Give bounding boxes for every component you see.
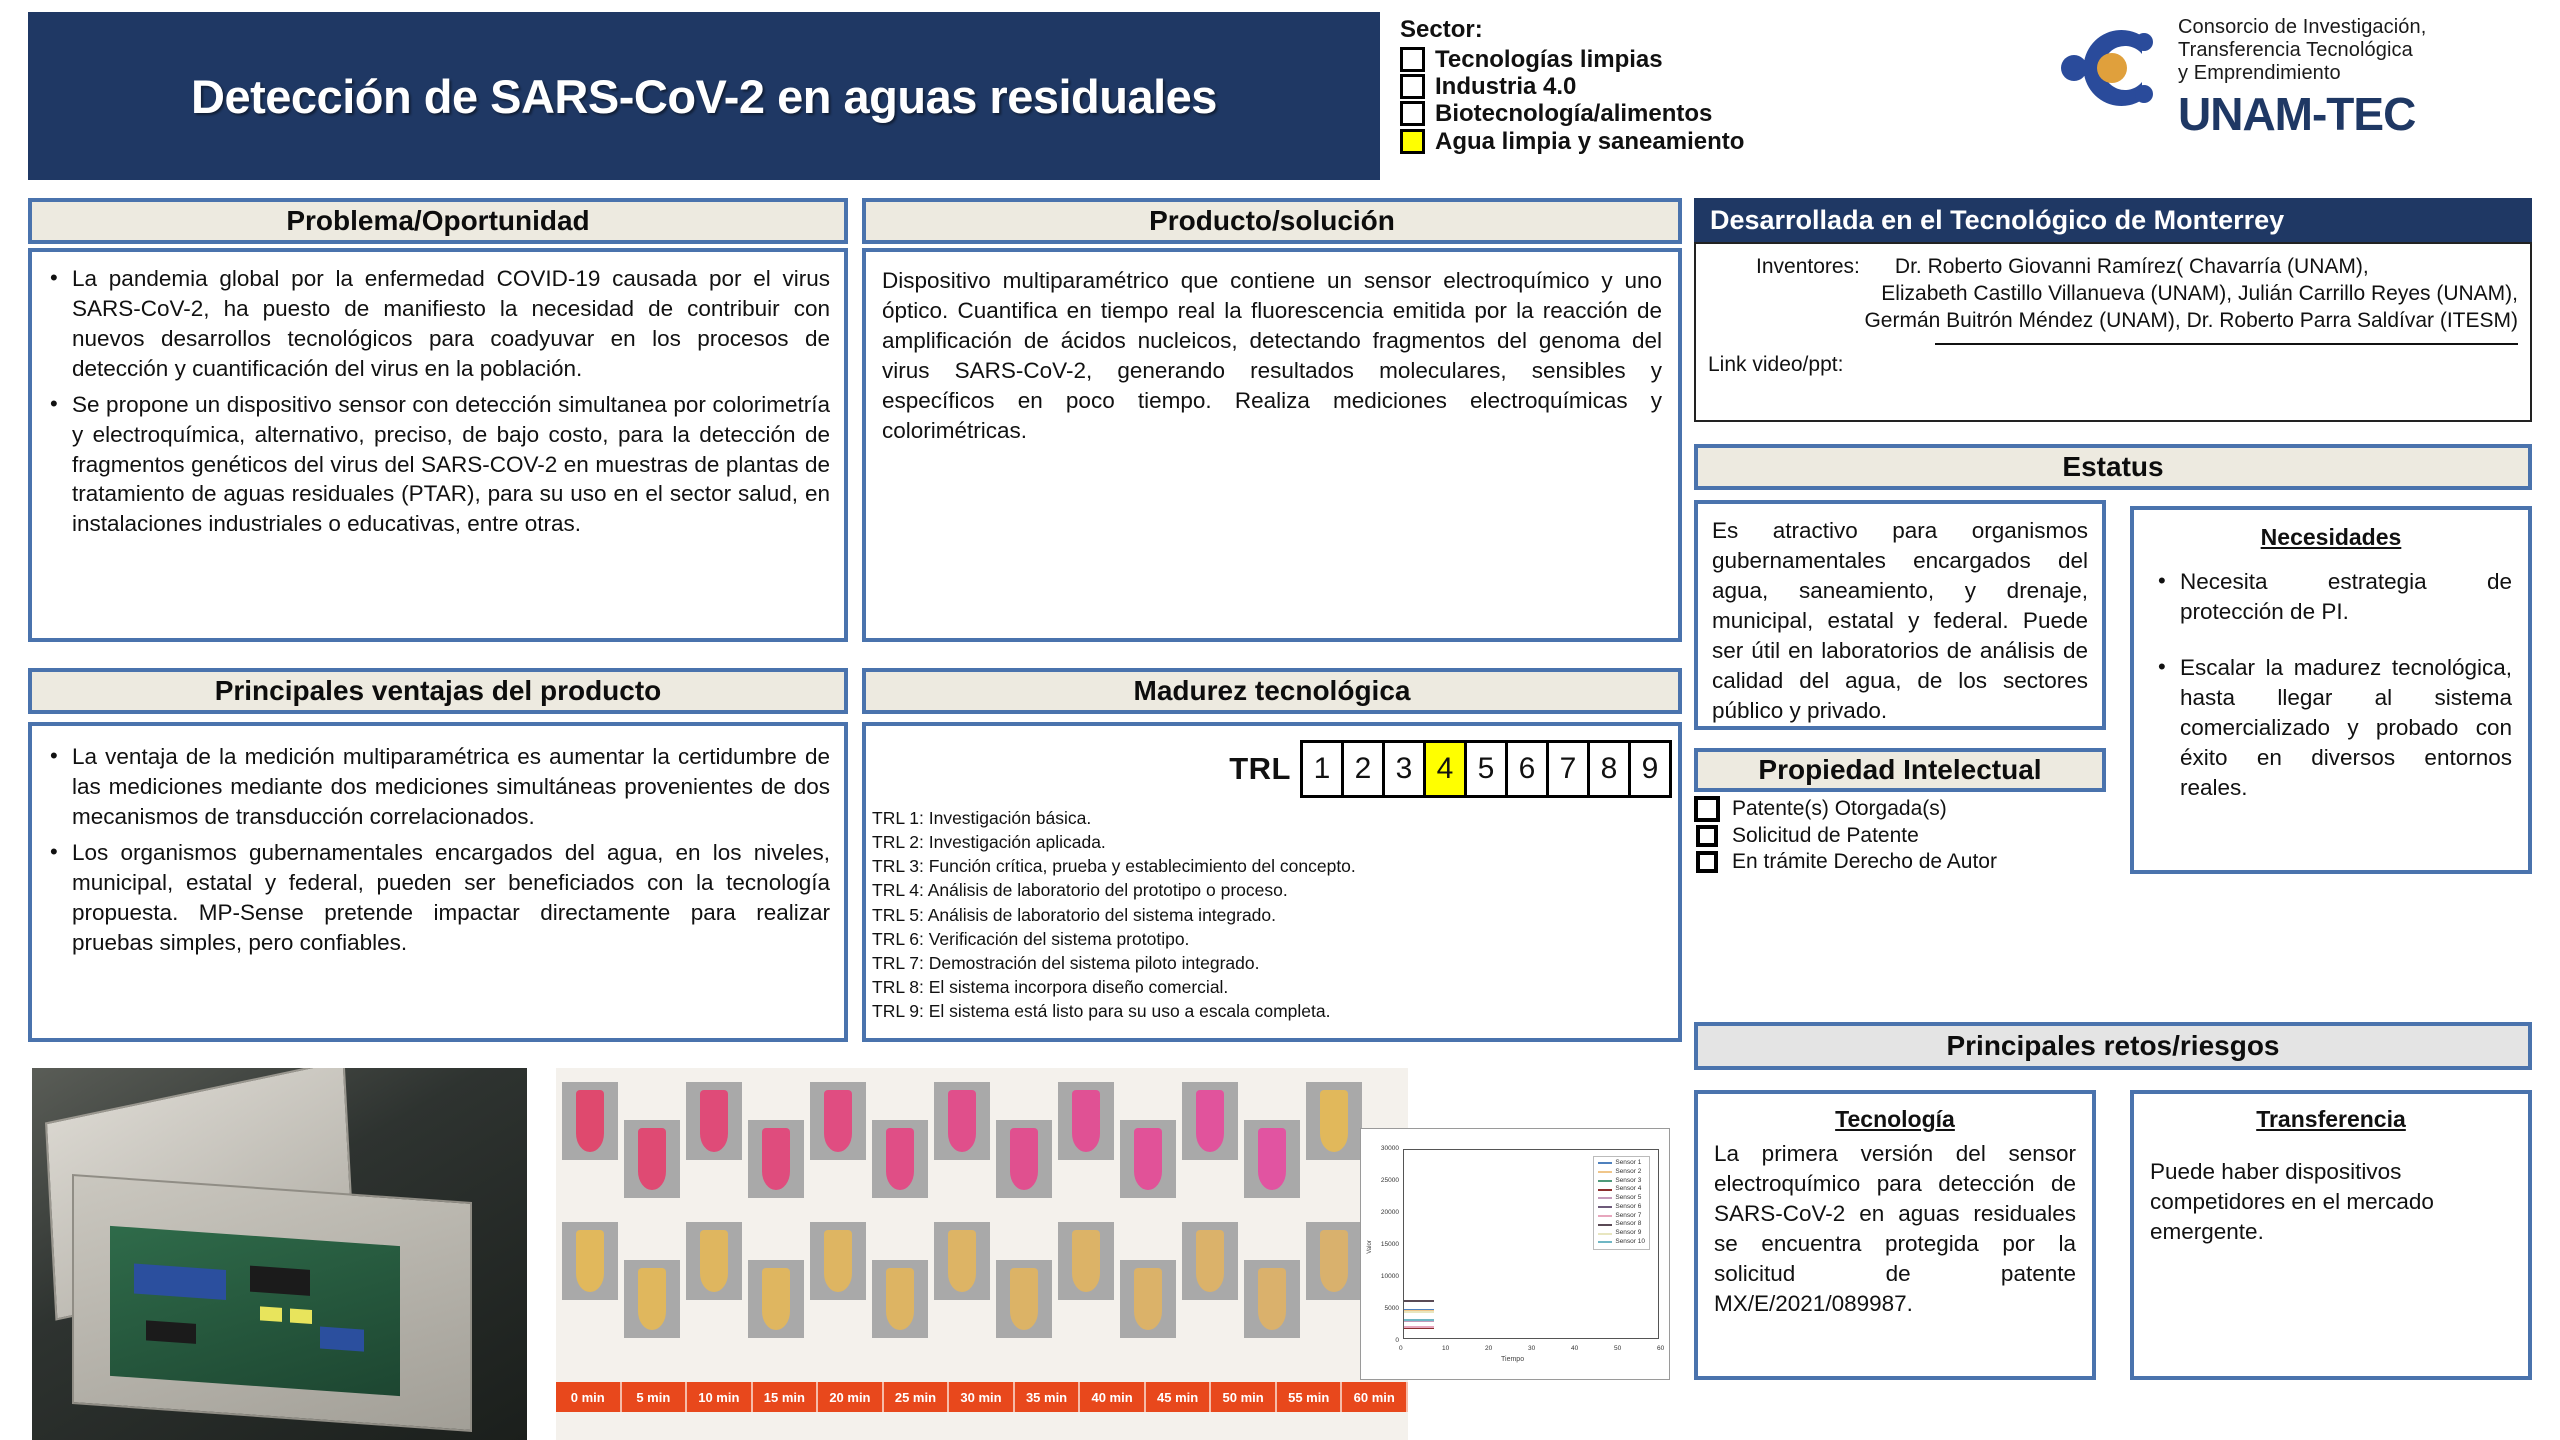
checkbox-icon[interactable] [1400, 74, 1425, 99]
chart-y-tick: 30000 [1365, 1145, 1399, 1152]
reaction-tube [824, 1090, 852, 1152]
reaction-tube-cell [1306, 1082, 1362, 1160]
reaction-tube-cell [996, 1120, 1052, 1198]
pi-option-label: En trámite Derecho de Autor [1732, 850, 1997, 874]
chart-x-tick: 0 [1399, 1345, 1403, 1352]
inventores-names-1: Dr. Roberto Giovanni Ramírez( Chavarría … [1895, 255, 2369, 278]
legend-label: Sensor 4 [1615, 1185, 1641, 1194]
device-photo [32, 1068, 527, 1440]
chart-x-tick: 40 [1571, 1345, 1578, 1352]
trl-definition: TRL 4: Análisis de laboratorio del proto… [872, 878, 1676, 902]
pcb-module [134, 1264, 226, 1300]
chart-legend-item: Sensor 2 [1598, 1168, 1645, 1177]
sector-option-label: Biotecnología/alimentos [1435, 101, 1712, 126]
chart-legend-item: Sensor 7 [1598, 1212, 1645, 1221]
reaction-tube-cell [872, 1260, 928, 1338]
poster-canvas: Detección de SARS-CoV-2 en aguas residua… [0, 0, 2560, 1440]
trl-definition: TRL 6: Verificación del sistema prototip… [872, 927, 1676, 951]
necesidades-body: Necesidades Necesita estrategia de prote… [2130, 506, 2532, 874]
chart-y-tick: 20000 [1365, 1209, 1399, 1216]
reaction-tube-cell [562, 1222, 618, 1300]
chart-legend-item: Sensor 10 [1598, 1238, 1645, 1247]
trl-cell-3[interactable]: 3 [1382, 740, 1426, 798]
trl-definition: TRL 3: Función crítica, prueba y estable… [872, 854, 1676, 878]
problema-heading: Problema/Oportunidad [28, 198, 848, 244]
sector-label: Sector: [1400, 16, 2000, 44]
legend-label: Sensor 5 [1615, 1194, 1641, 1203]
timeline-step: 30 min [949, 1382, 1015, 1412]
divider [1935, 343, 2518, 345]
unam-tec-logo: Consorcio de Investigación, Transferenci… [2060, 14, 2540, 119]
chart-legend-item: Sensor 1 [1598, 1159, 1645, 1168]
logo-line-3: y Emprendimiento [2178, 62, 2538, 85]
legend-label: Sensor 6 [1615, 1203, 1641, 1212]
estatus-text: Es atractivo para organismos gubernament… [1712, 516, 2088, 725]
chart-legend-item: Sensor 6 [1598, 1203, 1645, 1212]
list-item: Los organismos gubernamentales encargado… [42, 838, 830, 958]
sector-option-industria-40[interactable]: Industria 4.0 [1400, 74, 2000, 99]
chart-legend-item: Sensor 5 [1598, 1194, 1645, 1203]
timeline-step: 15 min [753, 1382, 819, 1412]
problema-body: La pandemia global por la enfermedad COV… [28, 248, 848, 642]
estatus-heading: Estatus [1694, 444, 2532, 490]
timeline-step: 0 min [556, 1382, 622, 1412]
necesidades-bullet-list: Necesita estrategia de protección de PI.… [2150, 567, 2512, 802]
reaction-tube-cell [624, 1260, 680, 1338]
trl-definition: TRL 7: Demostración del sistema piloto i… [872, 951, 1676, 975]
reaction-tube [1320, 1090, 1348, 1152]
necesidades-heading: Necesidades [2150, 524, 2512, 551]
timeline-step: 45 min [1146, 1382, 1212, 1412]
list-item: Se propone un dispositivo sensor con det… [42, 390, 830, 540]
reaction-tube [638, 1128, 666, 1190]
reaction-tube-cell [1058, 1222, 1114, 1300]
chart-series-line [1404, 1300, 1434, 1302]
logo-line-2: Transferencia Tecnológica [2178, 39, 2538, 62]
list-item: Necesita estrategia de protección de PI. [2150, 567, 2512, 627]
retos-tecnologia-text: La primera versión del sensor electroquí… [1714, 1139, 2076, 1319]
problema-bullet-list: La pandemia global por la enfermedad COV… [42, 264, 830, 539]
reaction-tube-cell [562, 1082, 618, 1160]
chart-x-tick: 20 [1485, 1345, 1492, 1352]
trl-cells: 1 2 3 4 5 6 7 8 9 [1303, 740, 1672, 798]
timeline-step: 35 min [1015, 1382, 1081, 1412]
logo-brand: UNAM-TEC [2178, 87, 2538, 141]
sector-option-label: Industria 4.0 [1435, 74, 1576, 99]
reaction-tube [762, 1268, 790, 1330]
pcb-connector [260, 1306, 282, 1322]
reaction-tube-cell [686, 1222, 742, 1300]
chart-y-tick: 10000 [1365, 1273, 1399, 1280]
producto-body: Dispositivo multiparamétrico que contien… [862, 248, 1682, 642]
retos-heading: Principales retos/riesgos [1694, 1022, 2532, 1070]
inventores-line-1: Inventores: Dr. Roberto Giovanni Ramírez… [1708, 254, 2518, 281]
list-item: Escalar la madurez tecnológica, hasta ll… [2150, 653, 2512, 803]
legend-swatch-icon [1598, 1162, 1612, 1164]
reaction-tube [1196, 1230, 1224, 1292]
retos-tecnologia-card: Tecnología La primera versión del sensor… [1694, 1090, 2096, 1380]
reaction-tube-cell [872, 1120, 928, 1198]
pcb-board [110, 1226, 400, 1396]
reaction-tube [1072, 1090, 1100, 1152]
estatus-body: Es atractivo para organismos gubernament… [1694, 500, 2106, 730]
pi-option-derecho-autor[interactable]: En trámite Derecho de Autor [1694, 850, 2106, 874]
desarrollada-body: Inventores: Dr. Roberto Giovanni Ramírez… [1694, 242, 2532, 422]
timeline-step: 40 min [1080, 1382, 1146, 1412]
trl-definition: TRL 2: Investigación aplicada. [872, 830, 1676, 854]
checkbox-icon[interactable] [1400, 101, 1425, 126]
trl-scale: TRL 1 2 3 4 5 6 7 8 9 [866, 738, 1678, 800]
timeline-step: 10 min [687, 1382, 753, 1412]
reaction-tube [1010, 1268, 1038, 1330]
legend-swatch-icon [1598, 1241, 1612, 1243]
inventores-label: Inventores: [1756, 255, 1860, 278]
legend-swatch-icon [1598, 1171, 1612, 1173]
reaction-tube [1010, 1128, 1038, 1190]
reaction-tube-cell [810, 1082, 866, 1160]
reaction-tube-cell [686, 1082, 742, 1160]
reaction-tube-cell [1182, 1082, 1238, 1160]
chart-legend-item: Sensor 8 [1598, 1220, 1645, 1229]
trl-cell-5[interactable]: 5 [1464, 740, 1508, 798]
chart-x-tick: 60 [1657, 1345, 1664, 1352]
madurez-heading: Madurez tecnológica [862, 668, 1682, 714]
chart-y-tick: 5000 [1365, 1305, 1399, 1312]
trl-definition: TRL 8: El sistema incorpora diseño comer… [872, 975, 1676, 999]
madurez-body: TRL 1 2 3 4 5 6 7 8 9 TRL 1: Investigaci… [862, 722, 1682, 1042]
reaction-tube-cell [1244, 1260, 1300, 1338]
chart-x-tick: 30 [1528, 1345, 1535, 1352]
reaction-tube [948, 1230, 976, 1292]
chart-series-line [1404, 1326, 1434, 1328]
reaction-tube [1072, 1230, 1100, 1292]
chart-y-tick: 25000 [1365, 1177, 1399, 1184]
fluorescence-chart: Sensor 1Sensor 2Sensor 3Sensor 4Sensor 5… [1360, 1128, 1670, 1380]
timeline-step: 20 min [818, 1382, 884, 1412]
title-bar: Detección de SARS-CoV-2 en aguas residua… [28, 12, 1380, 180]
reaction-tube [700, 1230, 728, 1292]
legend-label: Sensor 10 [1615, 1238, 1645, 1247]
inventores-line-3: Germán Buitrón Méndez (UNAM), Dr. Robert… [1708, 308, 2518, 335]
chart-y-tick: 0 [1365, 1337, 1399, 1344]
sector-option-label: Agua limpia y saneamiento [1435, 129, 1744, 154]
legend-label: Sensor 8 [1615, 1220, 1641, 1229]
legend-swatch-icon [1598, 1189, 1612, 1191]
retos-transferencia-card: Transferencia Puede haber dispositivos c… [2130, 1090, 2532, 1380]
trl-label: TRL [1229, 751, 1291, 787]
logo-text: Consorcio de Investigación, Transferenci… [2178, 16, 2538, 141]
chart-x-tick: 10 [1442, 1345, 1449, 1352]
checkbox-checked-icon[interactable] [1400, 129, 1425, 154]
reaction-tube [948, 1090, 976, 1152]
reaction-tube [576, 1230, 604, 1292]
legend-swatch-icon [1598, 1215, 1612, 1217]
checkbox-icon[interactable] [1400, 47, 1425, 72]
list-item: La ventaja de la medición multiparamétri… [42, 742, 830, 832]
timeline-step: 60 min [1342, 1382, 1408, 1412]
reaction-tube [1258, 1128, 1286, 1190]
inventores-line-2: Elizabeth Castillo Villanueva (UNAM), Ju… [1708, 281, 2518, 308]
reaction-tube-cell [624, 1120, 680, 1198]
timeline-bar: 0 min5 min10 min15 min20 min25 min30 min… [556, 1382, 1408, 1412]
pcb-chip [146, 1320, 196, 1343]
legend-label: Sensor 2 [1615, 1168, 1641, 1177]
timeline-step: 25 min [884, 1382, 950, 1412]
reaction-tube-cell [934, 1222, 990, 1300]
sector-option-label: Tecnologías limpias [1435, 47, 1663, 72]
reaction-tube [1134, 1128, 1162, 1190]
producto-text: Dispositivo multiparamétrico que contien… [882, 266, 1662, 446]
pcb-connector [290, 1308, 312, 1324]
reaction-tube-cell [1120, 1120, 1176, 1198]
trl-definitions: TRL 1: Investigación básica. TRL 2: Inve… [872, 806, 1676, 1023]
reaction-tube-cell [748, 1120, 804, 1198]
reaction-tube-cell [1120, 1260, 1176, 1338]
chart-series-line [1404, 1319, 1434, 1321]
timeline-step: 55 min [1277, 1382, 1343, 1412]
retos-transferencia-title: Transferencia [2150, 1106, 2512, 1133]
colorimetry-strip: 0 min5 min10 min15 min20 min25 min30 min… [556, 1068, 1408, 1440]
producto-heading: Producto/solución [862, 198, 1682, 244]
reaction-tube [886, 1268, 914, 1330]
checkbox-icon[interactable] [1696, 851, 1718, 873]
reaction-tube-cell [1182, 1222, 1238, 1300]
legend-label: Sensor 1 [1615, 1159, 1641, 1168]
propiedad-intelectual-body: Patente(s) Otorgada(s) Solicitud de Pate… [1694, 796, 2106, 892]
legend-label: Sensor 7 [1615, 1212, 1641, 1221]
reaction-tube-cell [1058, 1082, 1114, 1160]
checkbox-icon[interactable] [1694, 796, 1720, 822]
trl-cell-6[interactable]: 6 [1505, 740, 1549, 798]
reaction-tube [1320, 1230, 1348, 1292]
retos-transferencia-text: Puede haber dispositivos competidores en… [2150, 1157, 2512, 1247]
reaction-tube [576, 1090, 604, 1152]
chart-plot-area: Sensor 1Sensor 2Sensor 3Sensor 4Sensor 5… [1403, 1149, 1659, 1339]
sector-option-biotecnologia-alimentos[interactable]: Biotecnología/alimentos [1400, 101, 2000, 126]
legend-label: Sensor 3 [1615, 1177, 1641, 1186]
reaction-tube [1258, 1268, 1286, 1330]
pi-option-solicitud-patente[interactable]: Solicitud de Patente [1694, 824, 2106, 848]
sector-option-agua-limpia-saneamiento[interactable]: Agua limpia y saneamiento [1400, 129, 2000, 154]
consorcio-c-mark-icon [2060, 22, 2172, 114]
legend-label: Sensor 9 [1615, 1229, 1641, 1238]
reaction-tube [886, 1128, 914, 1190]
chart-series-line [1404, 1311, 1434, 1313]
ventajas-body: La ventaja de la medición multiparamétri… [28, 722, 848, 1042]
trl-definition: TRL 5: Análisis de laboratorio del siste… [872, 903, 1676, 927]
reaction-tube [824, 1230, 852, 1292]
pi-option-label: Patente(s) Otorgada(s) [1732, 797, 1947, 821]
link-video-ppt-label[interactable]: Link video/ppt: [1708, 353, 2518, 377]
reaction-tube-cell [1306, 1222, 1362, 1300]
checkbox-icon[interactable] [1696, 825, 1718, 847]
pi-option-label: Solicitud de Patente [1732, 824, 1919, 848]
reaction-tube [1134, 1268, 1162, 1330]
trl-cell-1[interactable]: 1 [1300, 740, 1344, 798]
trl-cell-2[interactable]: 2 [1341, 740, 1385, 798]
reaction-tube-cell [810, 1222, 866, 1300]
sector-option-tecnologias-limpias[interactable]: Tecnologías limpias [1400, 47, 2000, 72]
reaction-tube [700, 1090, 728, 1152]
sector-block: Sector: Tecnologías limpias Industria 4.… [1400, 16, 2000, 156]
trl-cell-8[interactable]: 8 [1587, 740, 1631, 798]
reaction-tube-cell [934, 1082, 990, 1160]
timeline-step: 50 min [1211, 1382, 1277, 1412]
reaction-tube [638, 1268, 666, 1330]
propiedad-intelectual-heading: Propiedad Intelectual [1694, 748, 2106, 792]
trl-cell-9[interactable]: 9 [1628, 740, 1672, 798]
trl-definition: TRL 9: El sistema está listo para su uso… [872, 999, 1676, 1023]
reaction-tube-cell [748, 1260, 804, 1338]
trl-cell-7[interactable]: 7 [1546, 740, 1590, 798]
legend-swatch-icon [1598, 1206, 1612, 1208]
legend-swatch-icon [1598, 1180, 1612, 1182]
reaction-tube-cell [1244, 1120, 1300, 1198]
chart-x-tick: 50 [1614, 1345, 1621, 1352]
logo-line-1: Consorcio de Investigación, [2178, 16, 2538, 39]
ventajas-bullet-list: La ventaja de la medición multiparamétri… [42, 742, 830, 957]
page-title: Detección de SARS-CoV-2 en aguas residua… [191, 69, 1217, 124]
legend-swatch-icon [1598, 1233, 1612, 1235]
reaction-tube [1196, 1090, 1224, 1152]
ventajas-heading: Principales ventajas del producto [28, 668, 848, 714]
retos-tecnologia-title: Tecnología [1714, 1106, 2076, 1133]
chart-legend-item: Sensor 4 [1598, 1185, 1645, 1194]
legend-swatch-icon [1598, 1197, 1612, 1199]
legend-swatch-icon [1598, 1224, 1612, 1226]
trl-cell-4-selected[interactable]: 4 [1423, 740, 1467, 798]
pcb-module [320, 1327, 364, 1352]
reaction-tube [762, 1128, 790, 1190]
trl-definition: TRL 1: Investigación básica. [872, 806, 1676, 830]
chart-legend-item: Sensor 9 [1598, 1229, 1645, 1238]
chart-x-axis-label: Tiempo [1501, 1356, 1524, 1363]
chart-legend-item: Sensor 3 [1598, 1177, 1645, 1186]
pi-option-patente-otorgada[interactable]: Patente(s) Otorgada(s) [1694, 796, 2106, 822]
chart-legend: Sensor 1Sensor 2Sensor 3Sensor 4Sensor 5… [1593, 1156, 1650, 1250]
list-item: La pandemia global por la enfermedad COV… [42, 264, 830, 384]
pcb-chip [250, 1266, 310, 1296]
reaction-tube-cell [996, 1260, 1052, 1338]
desarrollada-heading: Desarrollada en el Tecnológico de Monter… [1694, 198, 2532, 242]
timeline-step: 5 min [622, 1382, 688, 1412]
chart-y-axis-label: Valor [1367, 1240, 1373, 1254]
